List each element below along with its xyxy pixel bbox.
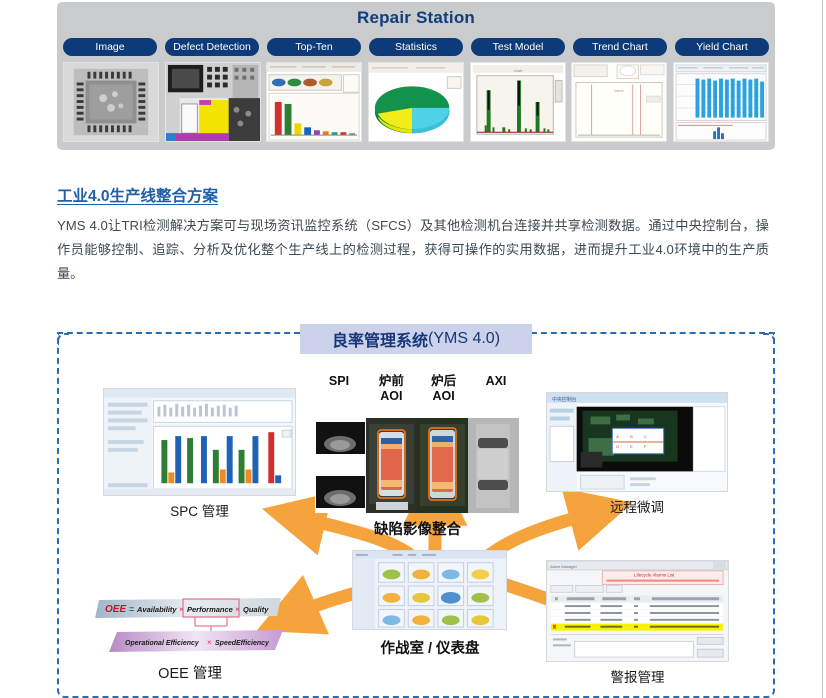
alarm-screenshot[interactable]: Alarm Manager Lifecycle Alarms List bbox=[546, 560, 729, 662]
svg-text:trend: trend bbox=[615, 88, 624, 93]
svg-text:Alarm Manager: Alarm Manager bbox=[550, 564, 578, 569]
tab-statistics[interactable]: Statistics bbox=[369, 38, 463, 56]
yms-frame-top-right bbox=[531, 332, 775, 334]
svg-text:Availability: Availability bbox=[136, 605, 177, 614]
defect-image-spi[interactable] bbox=[315, 418, 366, 513]
node-oee[interactable]: OEE = Availability × Performance × Quali… bbox=[95, 596, 285, 654]
yms-frame-corner-left bbox=[57, 333, 69, 345]
svg-text:=: = bbox=[129, 604, 134, 614]
remote-screenshot[interactable]: 中央控制台 ABCDEF bbox=[546, 392, 728, 492]
defect-column-headers: SPI 炉前AOI 炉后AOI AXI bbox=[315, 374, 520, 418]
svg-text:Quality: Quality bbox=[243, 605, 269, 614]
repair-station-tabbar: Image Defect Detection Top-Ten Statistic… bbox=[63, 38, 769, 56]
node-spc-caption: SPC 管理 bbox=[103, 500, 296, 520]
repair-station-thumbnails: chart bbox=[63, 62, 769, 142]
svg-text:×: × bbox=[207, 638, 212, 647]
defect-header-pre-reflow-aoi: 炉前AOI bbox=[367, 374, 415, 418]
article-paragraph: YMS 4.0让TRI检测解决方案可与现场资讯监控系统（SFCS）及其他检测机台… bbox=[57, 214, 769, 286]
svg-text:chart: chart bbox=[513, 68, 523, 73]
svg-text:A: A bbox=[616, 434, 619, 439]
repair-station-panel: Repair Station Image Defect Detection To… bbox=[57, 2, 775, 150]
svg-text:E: E bbox=[630, 444, 633, 449]
svg-text:Performance: Performance bbox=[187, 605, 233, 614]
node-center-caption: 作战室 / 仪表盘 bbox=[340, 637, 520, 658]
thumbnail-defect-detection-image[interactable] bbox=[165, 62, 261, 142]
node-alarm-caption: 警报管理 bbox=[546, 666, 729, 686]
center-dashboard-screenshot[interactable] bbox=[352, 550, 507, 630]
node-remote-caption: 远程微调 bbox=[546, 496, 728, 516]
tab-test-model[interactable]: Test Model bbox=[471, 38, 565, 56]
node-center[interactable] bbox=[352, 550, 507, 630]
yms-diagram-title: 良率管理系统 (YMS 4.0) bbox=[300, 324, 532, 354]
node-defect-image-caption: 缺陷影像整合 bbox=[315, 518, 520, 539]
page-right-rule bbox=[822, 0, 823, 698]
node-alarm[interactable]: Alarm Manager Lifecycle Alarms List bbox=[546, 560, 729, 686]
tab-trend-chart[interactable]: Trend Chart bbox=[573, 38, 667, 56]
svg-text:Operational Efficiency: Operational Efficiency bbox=[125, 640, 200, 647]
repair-station-title: Repair Station bbox=[57, 8, 775, 28]
thumbnail-ic-package-image[interactable] bbox=[63, 62, 159, 142]
svg-text:C: C bbox=[644, 434, 647, 439]
defect-image-pre-reflow-aoi[interactable] bbox=[366, 418, 417, 513]
page-title: 工业4.0生产线整合方案 bbox=[57, 184, 218, 206]
defect-header-post-reflow-aoi: 炉后AOI bbox=[420, 374, 468, 418]
tab-top-ten[interactable]: Top-Ten bbox=[267, 38, 361, 56]
svg-text:D: D bbox=[616, 444, 619, 449]
node-defect-image[interactable]: SPI 炉前AOI 炉后AOI AXI bbox=[315, 374, 520, 539]
oee-formula-graphic: OEE = Availability × Performance × Quali… bbox=[95, 596, 285, 654]
spc-screenshot[interactable] bbox=[103, 388, 296, 496]
defect-header-axi: AXI bbox=[472, 374, 520, 418]
tab-defect-detection[interactable]: Defect Detection bbox=[165, 38, 259, 56]
thumbnail-statistics-pie-chart[interactable] bbox=[368, 62, 464, 142]
svg-text:Lifecycle Alarms List: Lifecycle Alarms List bbox=[634, 573, 675, 578]
defect-header-spi: SPI bbox=[315, 374, 363, 418]
node-remote[interactable]: 中央控制台 ABCDEF 远程微调 bbox=[546, 392, 728, 516]
yms-title-en: (YMS 4.0) bbox=[428, 330, 500, 348]
svg-text:中央控制台: 中央控制台 bbox=[552, 396, 577, 403]
svg-text:OEE: OEE bbox=[105, 604, 126, 615]
defect-image-post-reflow-aoi[interactable] bbox=[417, 418, 468, 513]
svg-text:B: B bbox=[630, 434, 633, 439]
thumbnail-yield-chart[interactable] bbox=[673, 62, 769, 142]
defect-image-strip[interactable] bbox=[315, 418, 520, 513]
tab-image[interactable]: Image bbox=[63, 38, 157, 56]
thumbnail-test-model-spike-chart[interactable]: chart bbox=[470, 62, 566, 142]
node-oee-caption: OEE 管理 bbox=[95, 662, 285, 683]
yms-frame-top-left bbox=[57, 332, 300, 334]
tab-yield-chart[interactable]: Yield Chart bbox=[675, 38, 769, 56]
defect-image-axi[interactable] bbox=[468, 418, 519, 513]
yms-title-cn: 良率管理系统 bbox=[332, 327, 428, 351]
node-spc[interactable]: SPC 管理 bbox=[103, 388, 296, 520]
thumbnail-top-ten-bar-chart[interactable] bbox=[266, 62, 362, 142]
thumbnail-trend-chart[interactable]: trend bbox=[571, 62, 667, 142]
svg-text:SpeedEfficiency: SpeedEfficiency bbox=[215, 640, 270, 647]
